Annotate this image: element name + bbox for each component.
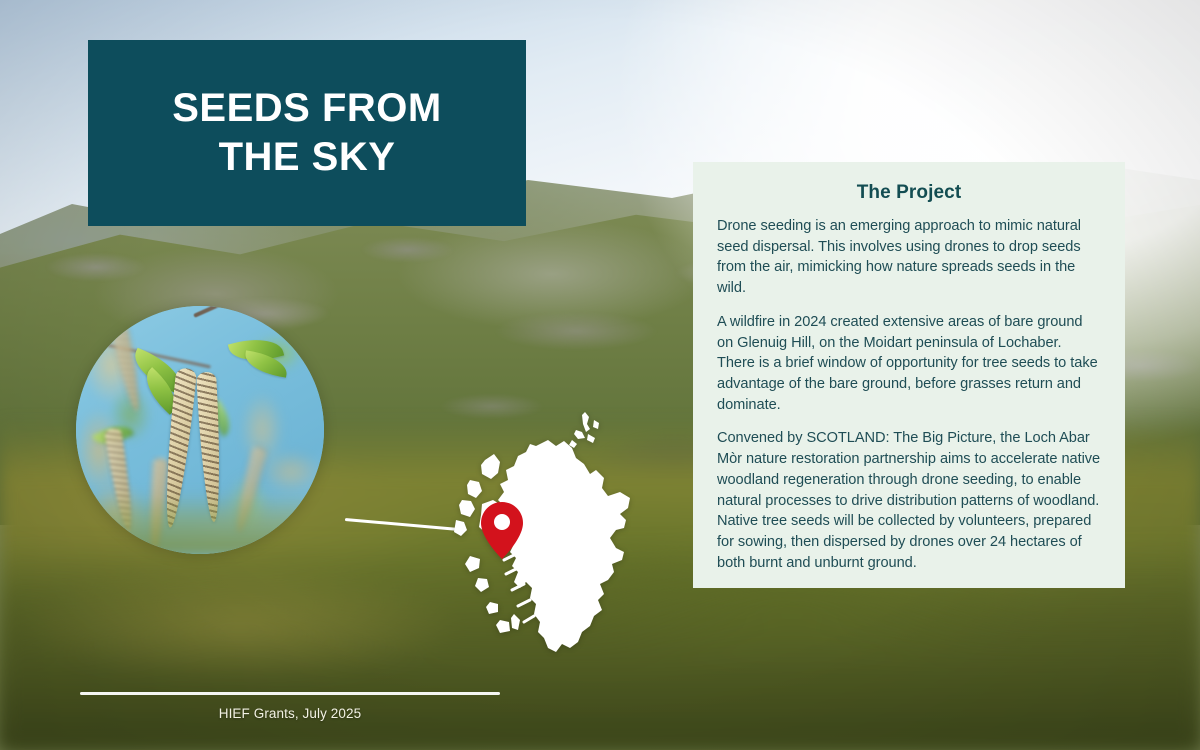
photo-grass-foreground bbox=[76, 492, 324, 554]
project-paragraph-1: Drone seeding is an emerging approach to… bbox=[717, 216, 1101, 299]
project-card: The Project Drone seeding is an emerging… bbox=[693, 162, 1125, 588]
circular-photo-birch-catkins bbox=[76, 306, 324, 554]
page-title: SEEDS FROM THE SKY bbox=[157, 84, 457, 182]
slide-canvas: SEEDS FROM THE SKY bbox=[0, 0, 1200, 750]
project-card-heading: The Project bbox=[717, 182, 1101, 204]
footer-caption: HIEF Grants, July 2025 bbox=[80, 706, 500, 721]
scotland-map bbox=[444, 408, 680, 660]
title-block: SEEDS FROM THE SKY bbox=[88, 40, 526, 226]
project-paragraph-3: Convened by SCOTLAND: The Big Picture, t… bbox=[717, 428, 1101, 573]
footer-divider bbox=[80, 692, 500, 695]
map-landmass-icon bbox=[454, 412, 630, 652]
project-paragraph-2: A wildfire in 2024 created extensive are… bbox=[717, 312, 1101, 416]
